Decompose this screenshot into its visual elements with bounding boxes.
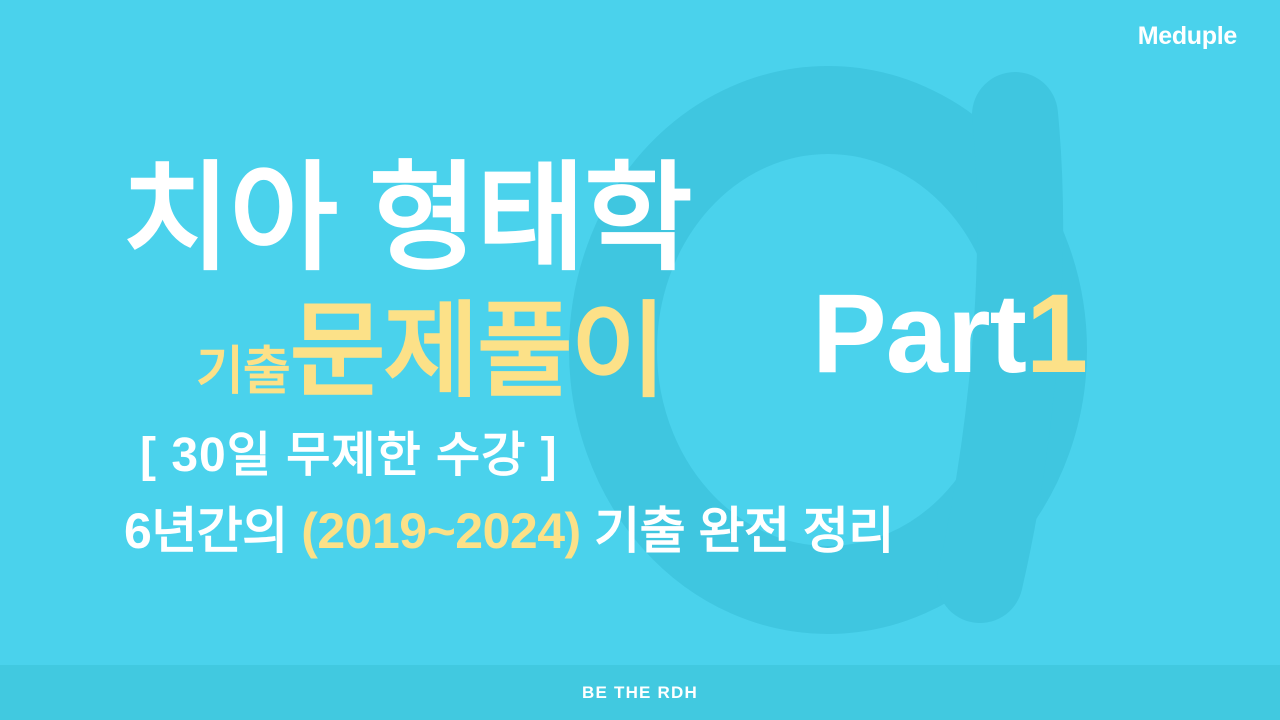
part-number: 1 bbox=[1026, 271, 1087, 396]
hero-title-block: 치아 형태학 기출 문제풀이 Part1 [ 30일 무제한 수강 ] 6년간의… bbox=[0, 0, 1280, 665]
page-title: 치아 형태학 bbox=[122, 160, 692, 278]
subject-line: 기출 문제풀이 bbox=[196, 300, 664, 404]
subject-main: 문제풀이 bbox=[290, 300, 665, 404]
part-label: Part1 bbox=[812, 278, 1087, 390]
coverage-years: (2019~2024) bbox=[301, 503, 580, 559]
footer-tagline: BE THE RDH bbox=[582, 684, 698, 701]
access-duration-badge: [ 30일 무제한 수강 ] bbox=[140, 432, 558, 480]
coverage-suffix: 기출 완전 정리 bbox=[581, 503, 894, 559]
coverage-line: 6년간의 (2019~2024) 기출 완전 정리 bbox=[124, 506, 894, 556]
footer-bar: BE THE RDH bbox=[0, 665, 1280, 720]
brand-logo: Meduple bbox=[1138, 24, 1237, 49]
subject-prefix: 기출 bbox=[196, 346, 290, 398]
part-word: Part bbox=[812, 271, 1026, 396]
coverage-prefix: 6년간의 bbox=[124, 503, 301, 559]
slide-canvas: Meduple 치아 형태학 기출 문제풀이 Part1 [ 30일 무제한 수… bbox=[0, 0, 1280, 720]
